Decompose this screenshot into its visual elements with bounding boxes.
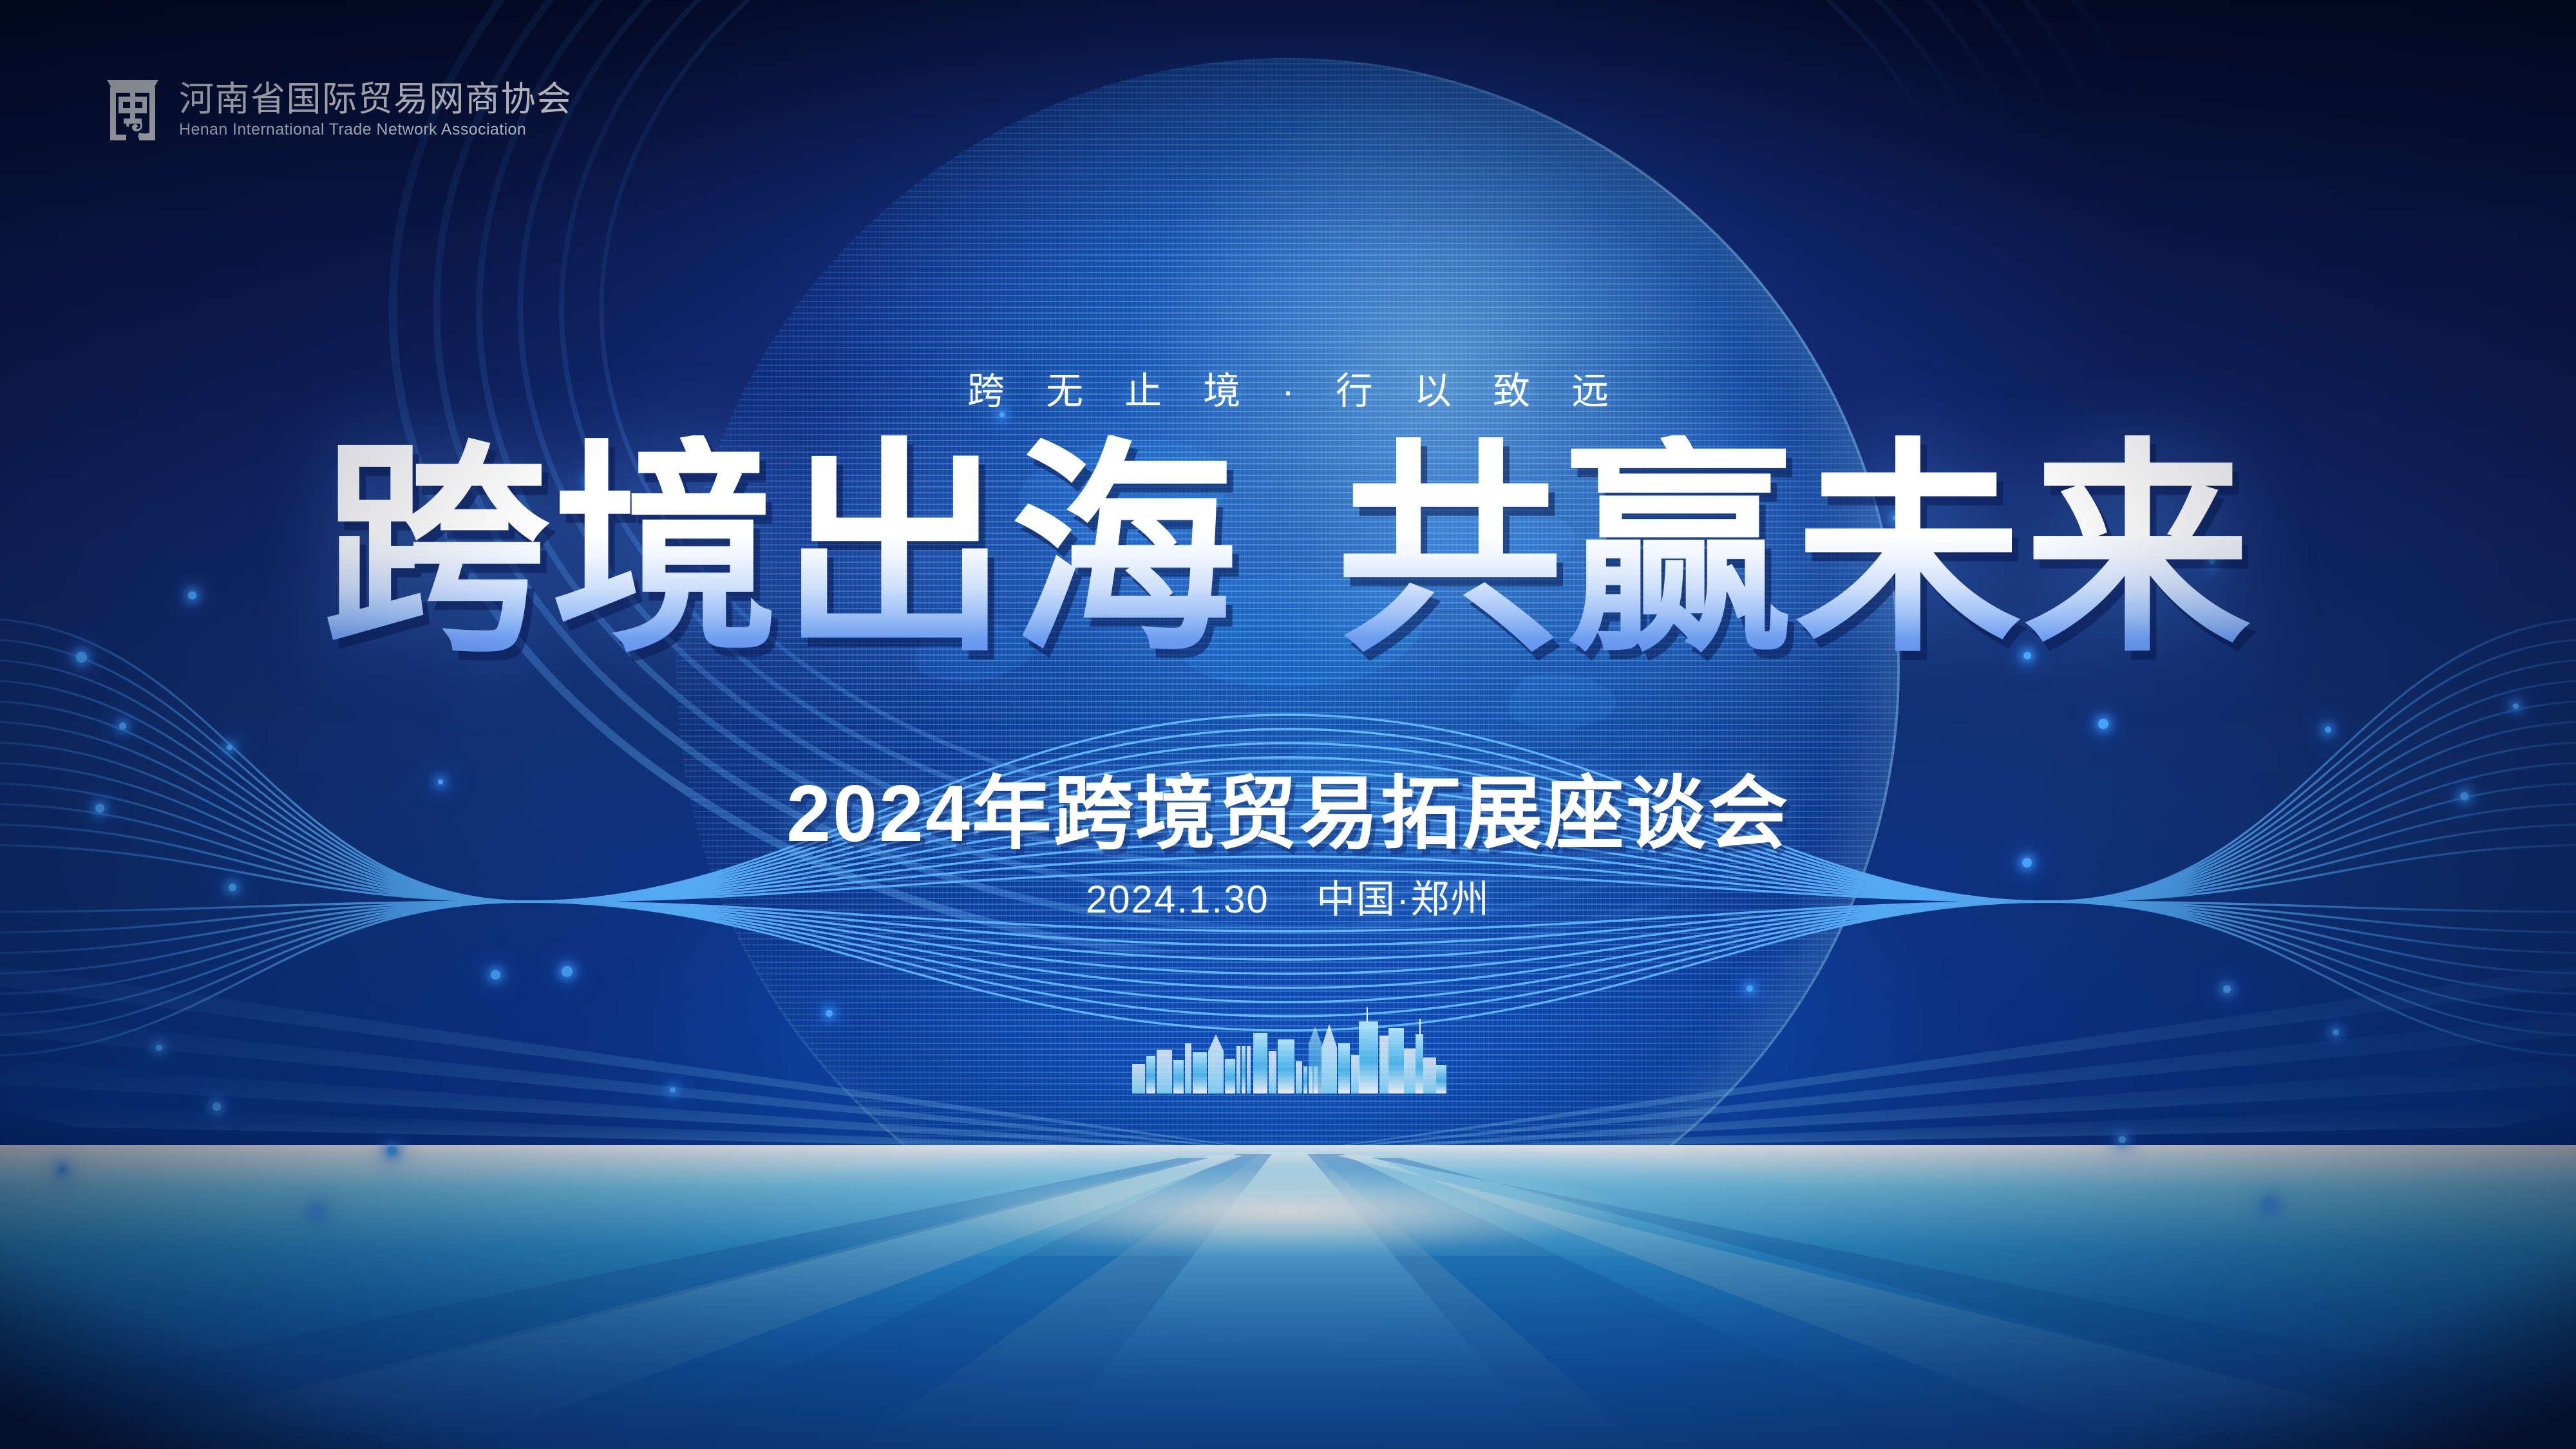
association-logo[interactable]: 河南省国际贸易网商协会 Henan International Trade Ne… xyxy=(102,76,573,144)
event-subtitle: 2024年跨境贸易拓展座谈会 xyxy=(0,748,2576,864)
headline-part-1: 跨境出海 xyxy=(323,435,1240,667)
event-location: 中国·郑州 xyxy=(1316,878,1490,921)
event-date: 2024.1.30 xyxy=(1086,878,1269,921)
tagline: 跨 无 止 境 · 行 以 致 远 xyxy=(0,361,2576,415)
headline-part-2: 共赢未来 xyxy=(1336,435,2253,667)
poster-canvas: 河南省国际贸易网商协会 Henan International Trade Ne… xyxy=(0,0,2576,1449)
city-skyline-icon xyxy=(1121,984,1455,1094)
logo-text-block: 河南省国际贸易网商协会 Henan International Trade Ne… xyxy=(179,82,573,138)
seal-script-wave-logo-icon xyxy=(102,76,164,144)
perspective-ground-plane xyxy=(0,1145,2576,1449)
logo-name-cn: 河南省国际贸易网商协会 xyxy=(179,82,573,117)
logo-name-en: Henan International Trade Network Associ… xyxy=(179,121,573,138)
event-meta: 2024.1.30 中国·郑州 xyxy=(0,868,2576,924)
headline: 跨境出海 共赢未来 xyxy=(0,435,2576,667)
